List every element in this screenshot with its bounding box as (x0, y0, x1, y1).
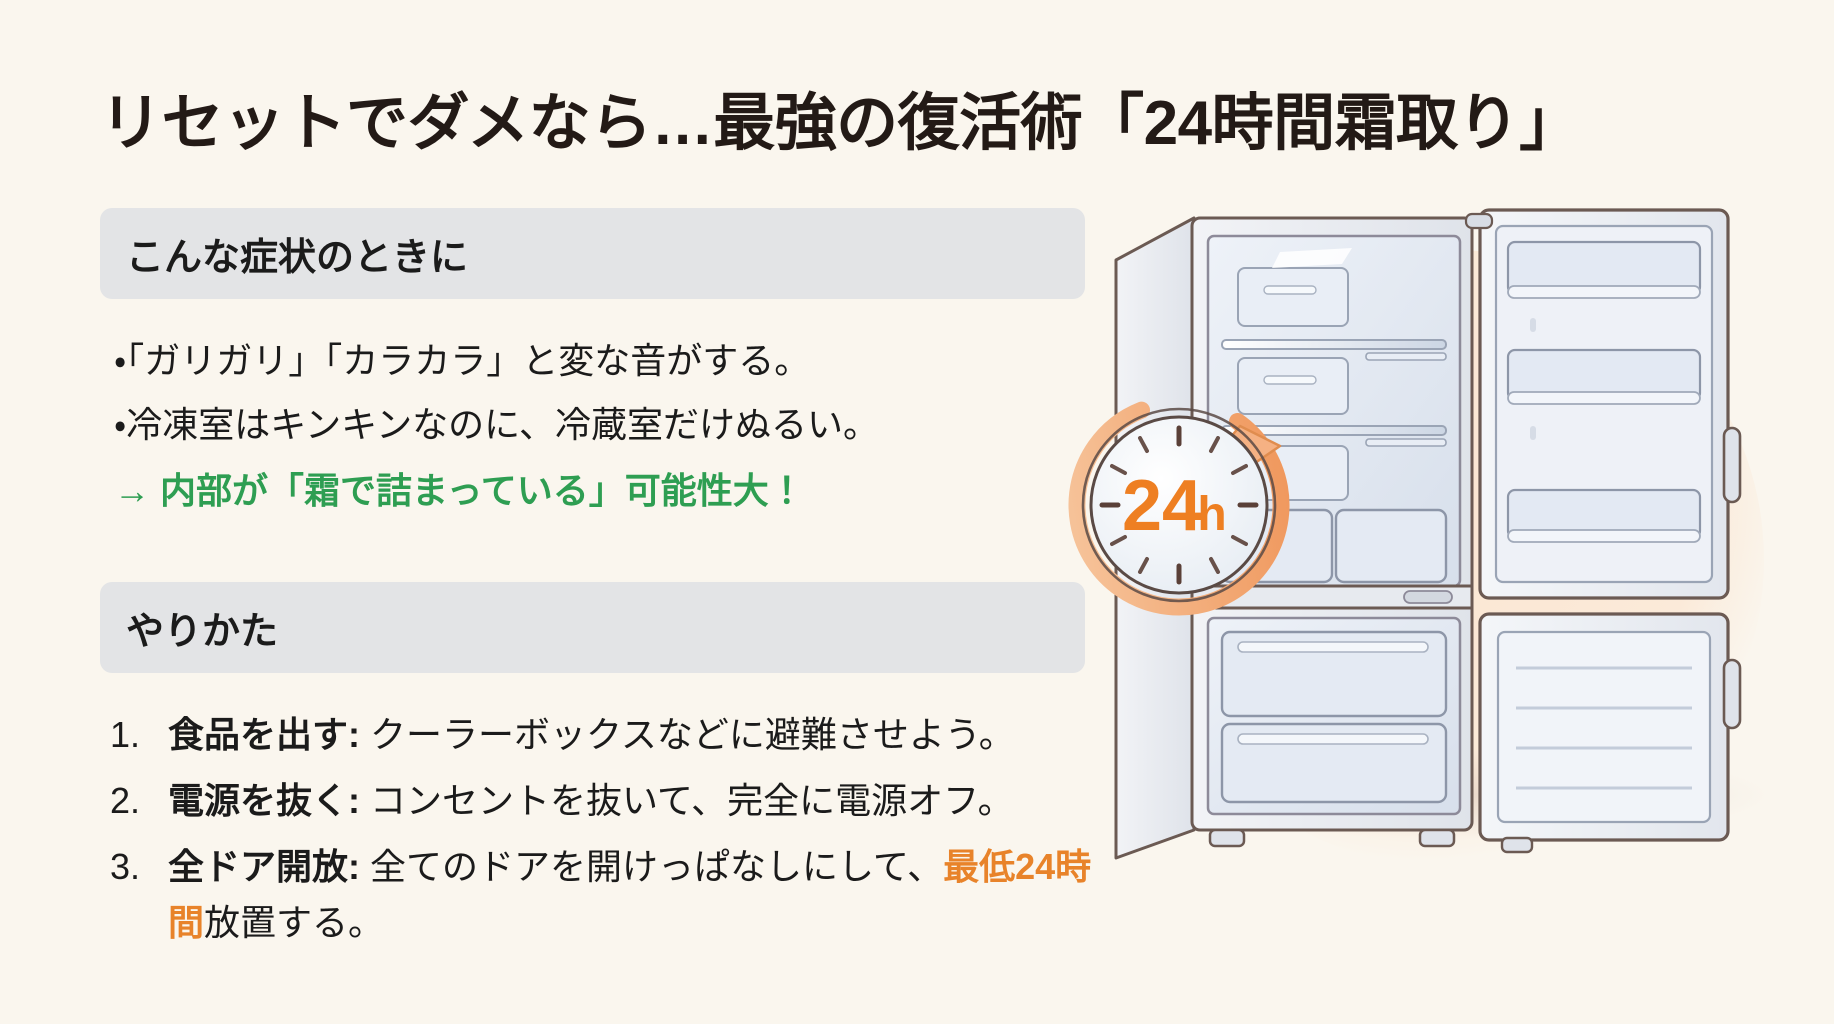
symptom-conclusion: → 内部が「霜で詰まっている」可能性大！ (114, 463, 1100, 519)
step-number: 2. (110, 773, 168, 829)
step-text: コンセントを抜いて、完全に電源オフ。 (360, 780, 1014, 821)
clock-unit: h (1197, 488, 1226, 541)
step-number: 1. (110, 707, 168, 763)
step-label: 食品を出す: (168, 714, 360, 755)
symptom-bullet-list: ・「ガリガリ」「カラカラ」と変な音がする。 ・冷凍室はキンキンなのに、冷蔵室だけ… (114, 333, 1100, 518)
step-tail: 放置する。 (204, 902, 384, 943)
step-text: 全てのドアを開けっぱなしにして、 (360, 846, 943, 887)
list-item: ・「ガリガリ」「カラカラ」と変な音がする。 (114, 333, 1100, 389)
howto-step-list: 1. 食品を出す: クーラーボックスなどに避難させよう。 2. 電源を抜く: コ… (110, 707, 1100, 950)
page-title: リセットでダメなら…最強の復活術「24時間霜取り」 (100, 72, 1581, 162)
clock-value: 24 (1122, 466, 1202, 546)
list-item: 1. 食品を出す: クーラーボックスなどに避難させよう。 (110, 707, 1100, 763)
step-body: 食品を出す: クーラーボックスなどに避難させよう。 (168, 707, 1100, 763)
list-item: 3. 全ドア開放: 全てのドアを開けっぱなしにして、最低24時間放置する。 (110, 839, 1100, 951)
section-header-howto: やりかた (100, 582, 1085, 673)
step-label: 電源を抜く: (168, 780, 360, 821)
section-spacer (100, 518, 1100, 582)
step-body: 全ドア開放: 全てのドアを開けっぱなしにして、最低24時間放置する。 (168, 839, 1100, 951)
step-body: 電源を抜く: コンセントを抜いて、完全に電源オフ。 (168, 773, 1100, 829)
illustration: 24 h (1064, 150, 1824, 950)
content-column: こんな症状のときに ・「ガリガリ」「カラカラ」と変な音がする。 ・冷凍室はキンキ… (100, 208, 1100, 961)
step-label: 全ドア開放: (168, 846, 360, 887)
slide: リセットでダメなら…最強の復活術「24時間霜取り」 こんな症状のときに ・「ガリ… (0, 0, 1834, 1024)
step-number: 3. (110, 839, 168, 895)
step-text: クーラーボックスなどに避難させよう。 (360, 714, 1015, 755)
list-item: 2. 電源を抜く: コンセントを抜いて、完全に電源オフ。 (110, 773, 1100, 829)
list-item: ・冷凍室はキンキンなのに、冷蔵室だけぬるい。 (114, 397, 1100, 453)
section-header-symptoms: こんな症状のときに (100, 208, 1085, 299)
clock-24h-badge-icon: 24 h (1054, 380, 1304, 630)
